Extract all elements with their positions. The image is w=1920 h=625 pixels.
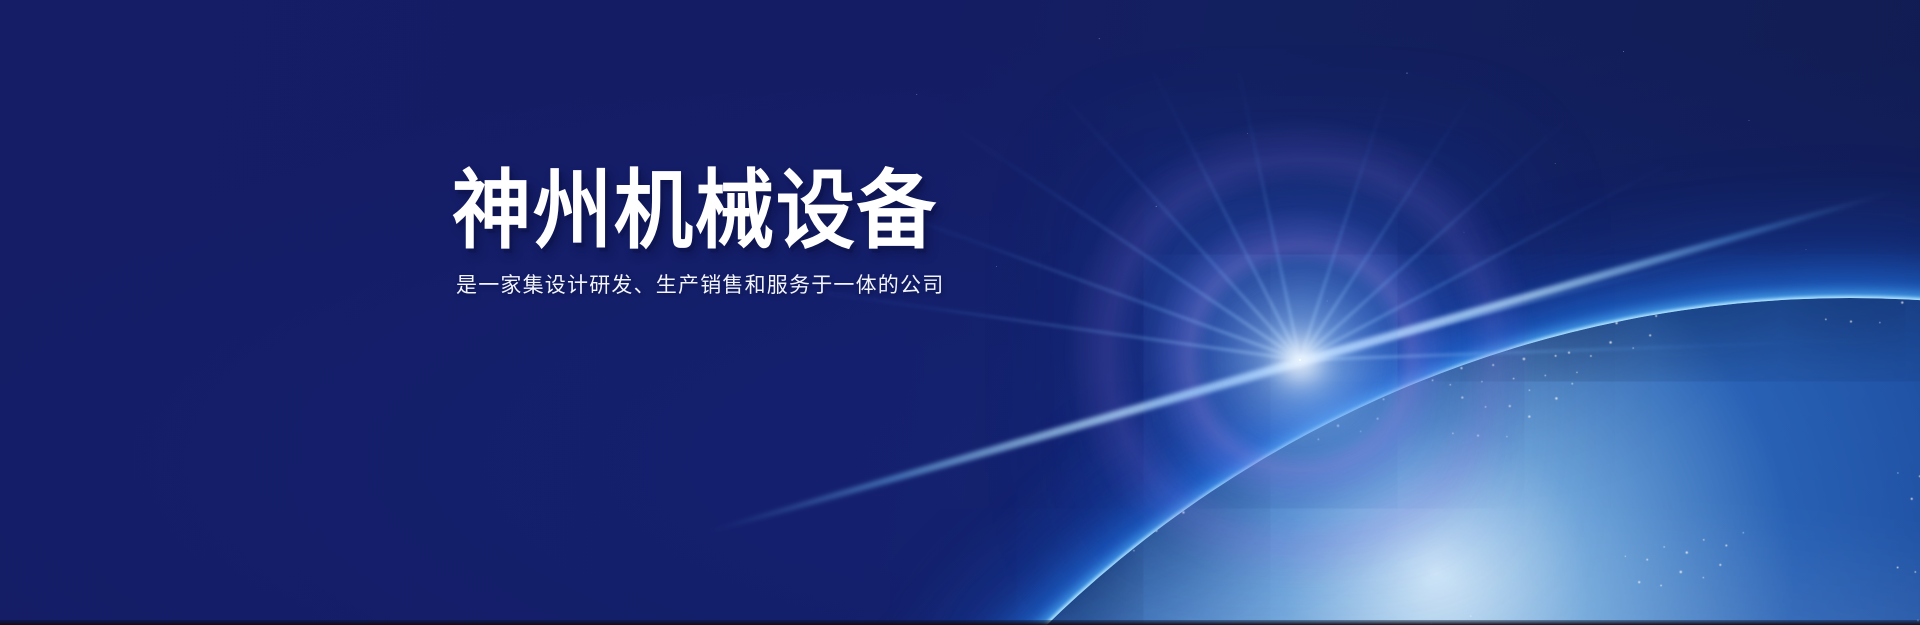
hero-text-block: 神州机械设备 是一家集设计研发、生产销售和服务于一体的公司 bbox=[452, 168, 980, 299]
hero-banner: 神州机械设备 是一家集设计研发、生产销售和服务于一体的公司 bbox=[0, 0, 1920, 625]
sun-flare-core bbox=[1299, 359, 1301, 361]
page-subtitle: 是一家集设计研发、生产销售和服务于一体的公司 bbox=[456, 272, 980, 299]
page-title: 神州机械设备 bbox=[452, 168, 938, 254]
bottom-edge-divider bbox=[0, 620, 1920, 625]
earth-graphic-container bbox=[0, 0, 1920, 625]
